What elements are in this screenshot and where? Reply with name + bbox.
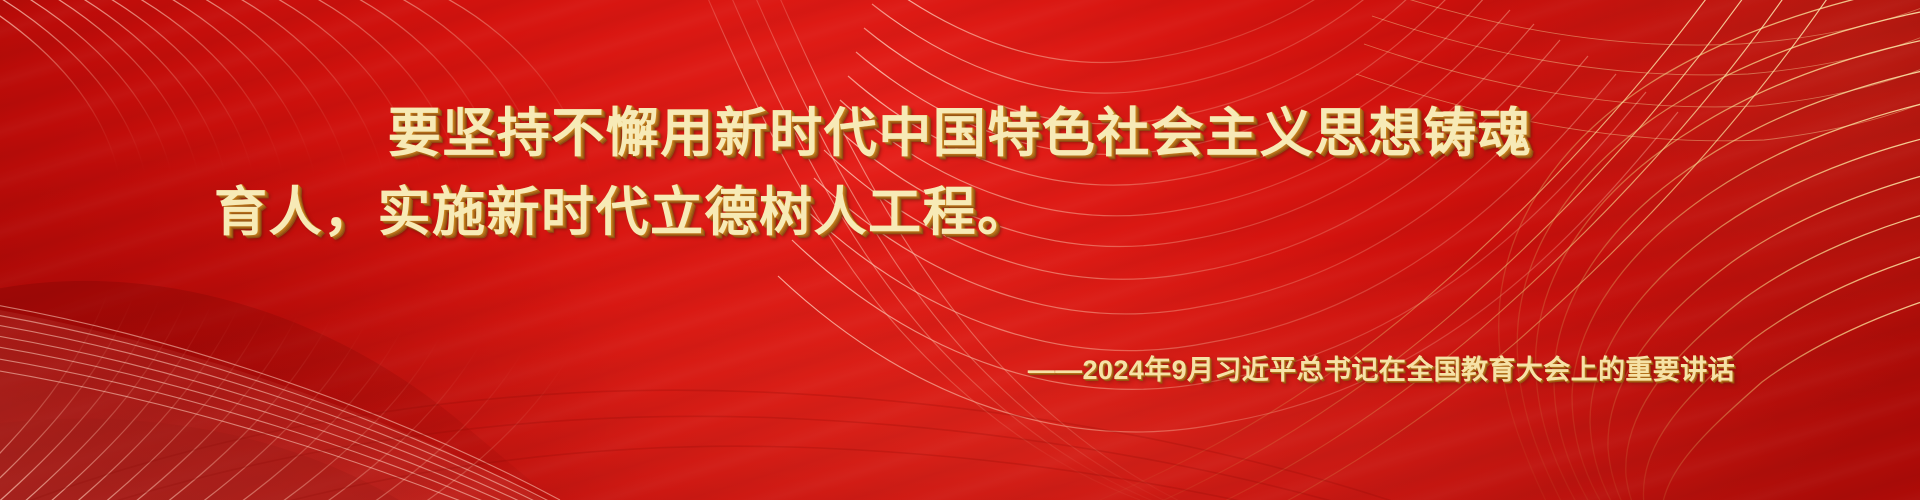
headline-line-1: 要坚持不懈用新时代中国特色社会主义思想铸魂 <box>388 104 1533 163</box>
headline-line-2: 育人，实施新时代立德树人工程。 <box>0 175 1920 250</box>
headline-block: 要坚持不懈用新时代中国特色社会主义思想铸魂 育人，实施新时代立德树人工程。 <box>0 96 1920 251</box>
attribution-line: ——2024年9月习近平总书记在全国教育大会上的重要讲话 <box>1028 348 1735 387</box>
propaganda-banner: 要坚持不懈用新时代中国特色社会主义思想铸魂 育人，实施新时代立德树人工程。 ——… <box>0 0 1920 500</box>
banner-content: 要坚持不懈用新时代中国特色社会主义思想铸魂 育人，实施新时代立德树人工程。 ——… <box>0 0 1920 500</box>
